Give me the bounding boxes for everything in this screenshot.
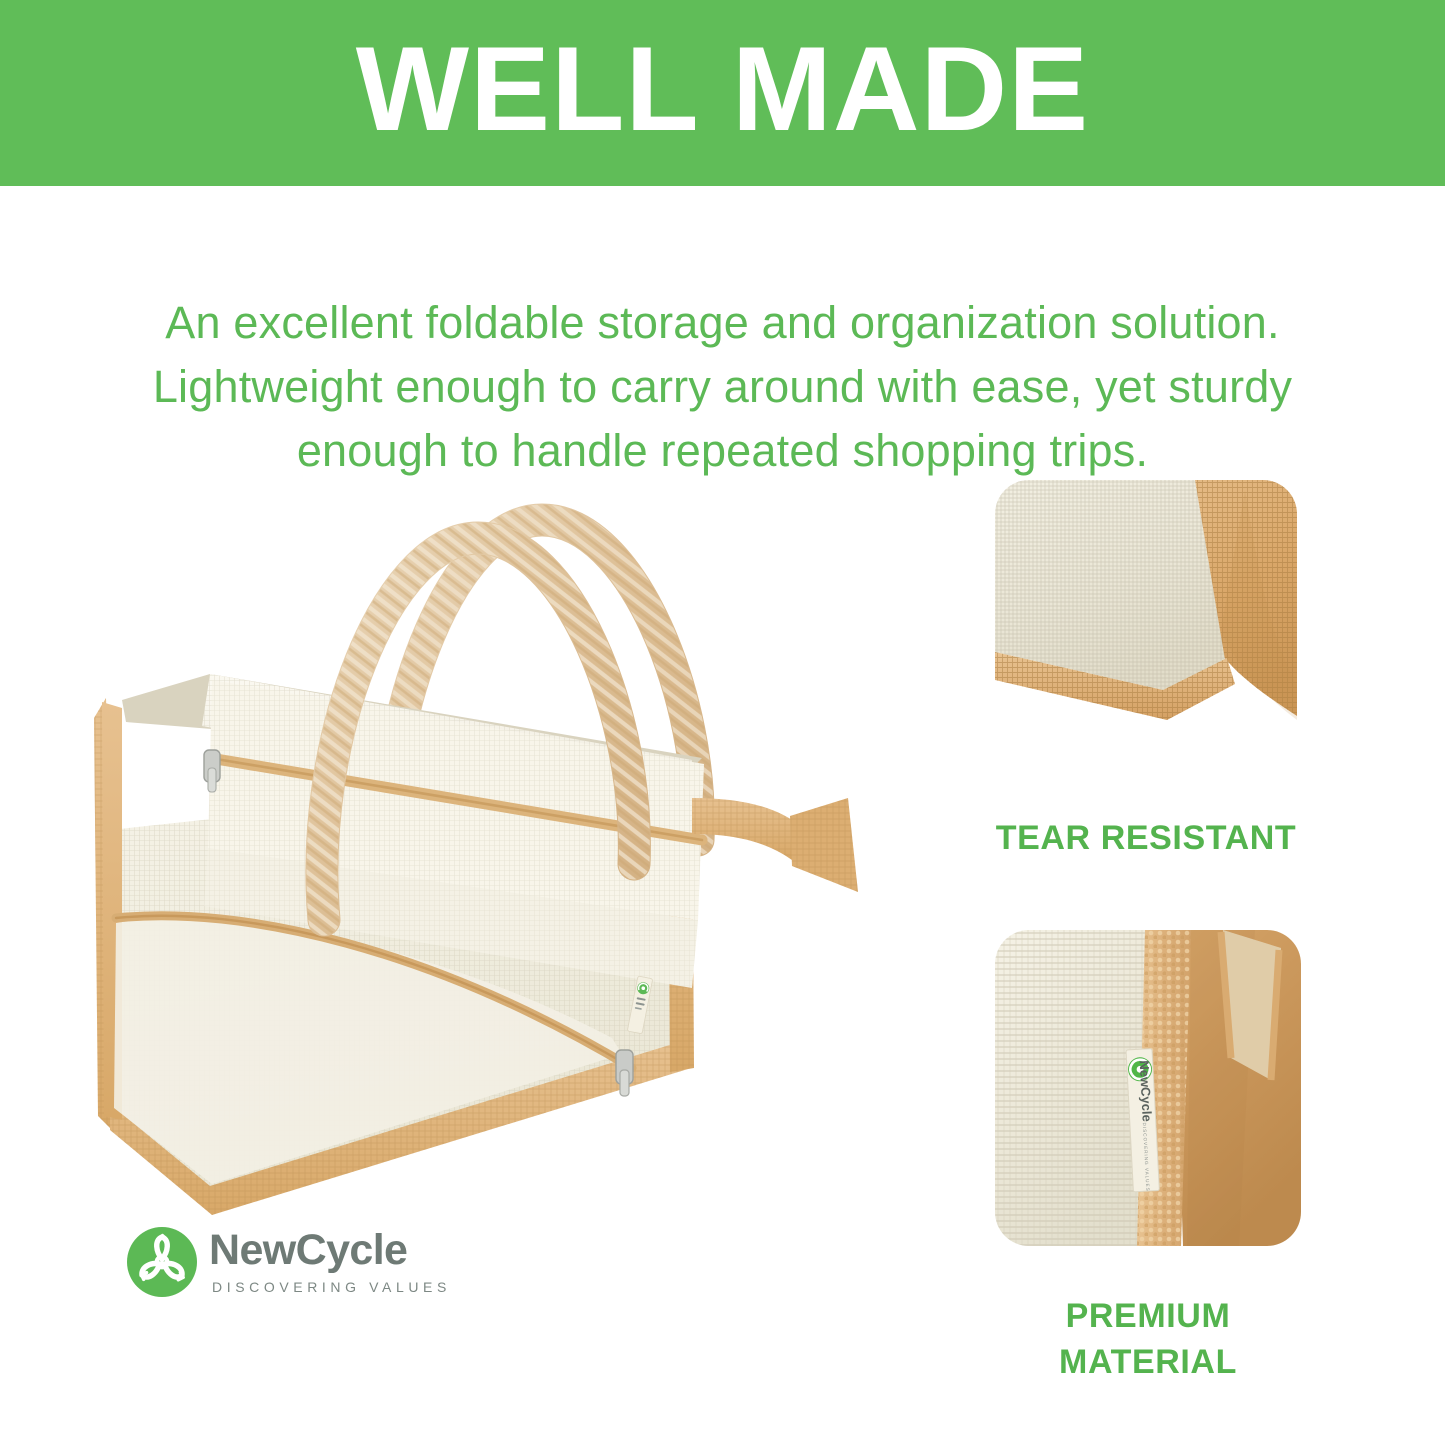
detail-label-premium-material: PREMIUM MATERIAL	[995, 1294, 1301, 1386]
detail-label-premium-line2: MATERIAL	[995, 1340, 1301, 1386]
detail-label-tear-resistant: TEAR RESISTANT	[995, 816, 1297, 862]
fabric-label-closeup: NewCycle DISCOVERING VALUES	[995, 930, 1301, 1246]
detail-label-premium-line1: PREMIUM	[995, 1294, 1301, 1340]
premium-material-photo: NewCycle DISCOVERING VALUES	[995, 930, 1301, 1246]
label-brand-text: NewCycle	[1137, 1060, 1155, 1122]
fabric-corner-closeup	[995, 480, 1297, 768]
infographic-page: WELL MADE An excellent foldable storage …	[0, 0, 1445, 1445]
brand-wordmark: NewCycle DISCOVERING VALUES	[209, 1229, 451, 1295]
detail-card-premium-material: NewCycle DISCOVERING VALUES PREMIUM MATE…	[995, 930, 1301, 1386]
brand-name: NewCycle	[209, 1229, 451, 1272]
header-banner: WELL MADE	[0, 0, 1445, 186]
tear-resistant-photo	[995, 480, 1297, 768]
brand-logo: NewCycle DISCOVERING VALUES	[126, 1226, 451, 1298]
recycle-propeller-icon	[126, 1226, 198, 1298]
hero-product-photo	[92, 468, 882, 1228]
page-title: WELL MADE	[356, 29, 1089, 157]
bag-side-tab	[692, 798, 858, 892]
detail-card-tear-resistant: TEAR RESISTANT	[995, 480, 1297, 862]
brand-tagline: DISCOVERING VALUES	[209, 1279, 451, 1295]
subhead-description: An excellent foldable storage and organi…	[72, 291, 1373, 483]
side-tab-closeup	[1221, 930, 1281, 1080]
tote-bag-illustration	[92, 468, 882, 1228]
